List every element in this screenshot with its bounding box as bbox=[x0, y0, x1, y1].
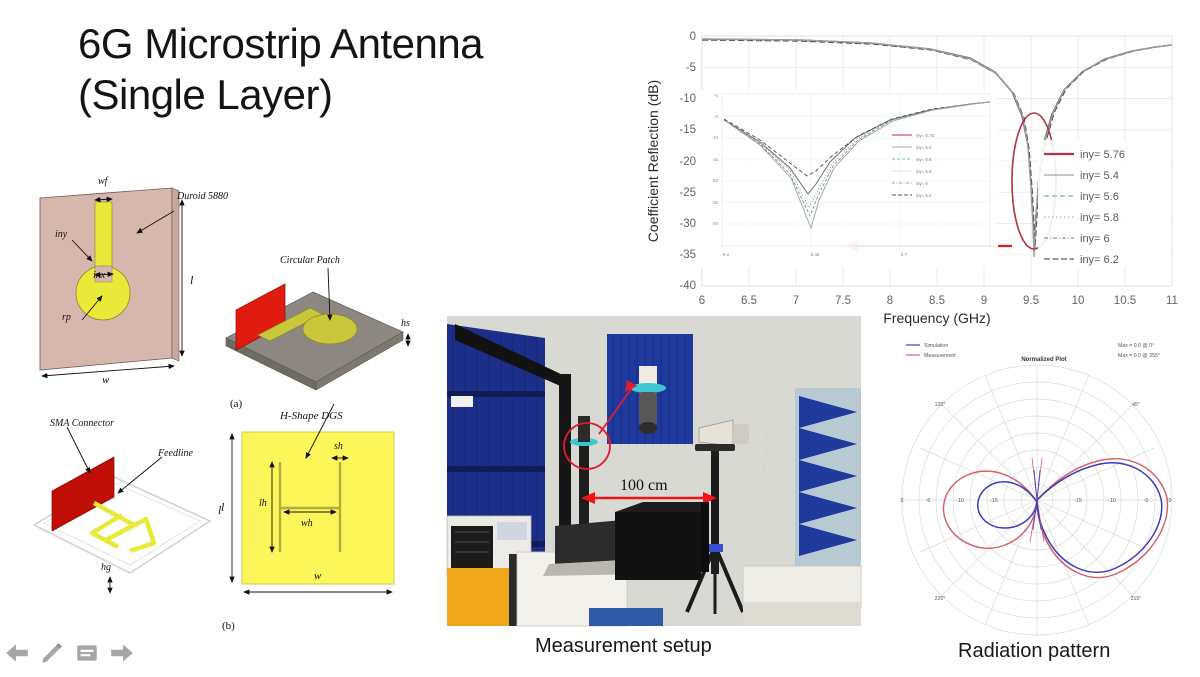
svg-text:-5: -5 bbox=[926, 498, 931, 504]
svg-text:6: 6 bbox=[699, 295, 705, 307]
document-icon[interactable] bbox=[74, 640, 100, 666]
caption-measurement-setup: Measurement setup bbox=[535, 635, 712, 658]
svg-text:9.5: 9.5 bbox=[1023, 295, 1039, 307]
label-l-left: l bbox=[190, 273, 193, 288]
legend-label-4: iny= 6 bbox=[1080, 233, 1110, 245]
slide-canvas: 6G Microstrip Antenna (Single Layer) bbox=[0, 0, 1200, 677]
svg-text:-40: -40 bbox=[679, 280, 696, 292]
svg-text:10: 10 bbox=[1072, 295, 1085, 307]
panel-label-b: (b) bbox=[222, 620, 235, 632]
svg-text:-25: -25 bbox=[711, 200, 718, 205]
polar-max-meas: Max = 0.0 @ 355° bbox=[1118, 353, 1160, 359]
label-l-b: l bbox=[221, 500, 224, 515]
polar-angle-225: 225° bbox=[935, 596, 946, 602]
label-sh: sh bbox=[334, 441, 343, 452]
radiation-pattern-polar-chart: Simulation Measurement Max = 0.0 @ 0° Ma… bbox=[878, 330, 1196, 630]
svg-text:-10: -10 bbox=[679, 93, 696, 105]
chart-y-ticks: 0 -5 -10 -15 -20 -25 -30 -35 -40 bbox=[679, 31, 696, 292]
svg-text:iny= 6.2: iny= 6.2 bbox=[916, 193, 932, 198]
chart-x-ticks: 6 6.5 7 7.5 8 8.5 9 9.5 10 10.5 11 bbox=[699, 295, 1178, 307]
svg-text:iny= 5.4: iny= 5.4 bbox=[916, 145, 932, 150]
label-w-b: w bbox=[314, 570, 321, 582]
svg-text:-15: -15 bbox=[679, 124, 696, 136]
label-hg: hg bbox=[101, 562, 111, 573]
svg-text:-10: -10 bbox=[956, 498, 964, 504]
svg-text:-15: -15 bbox=[1074, 498, 1082, 504]
label-wh: wh bbox=[301, 518, 313, 529]
polar-angle-45: 45° bbox=[1132, 402, 1140, 408]
label-w-left: w bbox=[102, 374, 109, 386]
polar-max-sim: Max = 0.0 @ 0° bbox=[1118, 343, 1154, 349]
chart-y-axis-title: Coefficient Reflection (dB) bbox=[645, 80, 661, 242]
figure-antenna-3d-view: Circular Patch hs bbox=[218, 250, 418, 410]
measurement-setup-photo: 100 cm bbox=[447, 316, 861, 626]
legend-label-2: iny= 5.6 bbox=[1080, 191, 1119, 203]
polar-legend-measurement: Measurement bbox=[924, 353, 956, 359]
legend-label-5: iny= 6.2 bbox=[1080, 254, 1119, 266]
svg-text:-15: -15 bbox=[990, 498, 998, 504]
svg-text:-25: -25 bbox=[679, 187, 696, 199]
legend-label-1: iny= 5.4 bbox=[1080, 170, 1119, 182]
svg-text:0: 0 bbox=[690, 31, 696, 43]
svg-text:-10: -10 bbox=[1108, 498, 1116, 504]
svg-text:-35: -35 bbox=[679, 249, 696, 261]
distance-label: 100 cm bbox=[620, 477, 668, 494]
polar-legend-simulation: Simulation bbox=[924, 343, 948, 349]
label-circular-patch: Circular Patch bbox=[280, 255, 340, 266]
svg-text:9.46: 9.46 bbox=[811, 252, 820, 257]
svg-text:9: 9 bbox=[981, 295, 987, 307]
svg-text:10.5: 10.5 bbox=[1114, 295, 1136, 307]
svg-text:7: 7 bbox=[793, 295, 799, 307]
label-feedline: Feedline bbox=[158, 448, 193, 459]
caption-radiation-pattern: Radiation pattern bbox=[958, 640, 1110, 663]
title-line-2: (Single Layer) bbox=[78, 69, 638, 120]
svg-text:iny= 5.8: iny= 5.8 bbox=[916, 169, 932, 174]
figure-antenna-front-view: wf Duroid 5880 iny inx rp l w bbox=[22, 178, 237, 393]
label-hs: hs bbox=[401, 318, 410, 329]
svg-text:8: 8 bbox=[887, 295, 893, 307]
chart-inset: -0 -5 -10 -15 -20 -25 -30 9.2 9.46 9.7 bbox=[698, 90, 998, 268]
wall-label bbox=[451, 396, 473, 407]
svg-text:-0: -0 bbox=[714, 93, 719, 98]
svg-text:-5: -5 bbox=[686, 62, 696, 74]
label-inx: inx bbox=[93, 270, 105, 281]
forward-arrow-icon[interactable] bbox=[109, 640, 135, 666]
svg-text:-20: -20 bbox=[711, 178, 718, 183]
chart-legend: iny= 5.76 iny= 5.4 iny= 5.6 iny= 5.8 iny… bbox=[1038, 140, 1170, 268]
label-lh: lh bbox=[259, 498, 267, 509]
svg-text:9.7: 9.7 bbox=[901, 252, 908, 257]
chart-x-axis-title: Frequency (GHz) bbox=[883, 310, 990, 326]
svg-text:iny= 6: iny= 6 bbox=[916, 181, 928, 186]
figure-sma-feedline-view: SMA Connector Feedline hg l bbox=[22, 415, 227, 610]
svg-text:0: 0 bbox=[1169, 498, 1172, 504]
svg-text:-5: -5 bbox=[714, 114, 719, 119]
svg-text:-20: -20 bbox=[679, 156, 696, 168]
absorber-wall-right bbox=[795, 388, 861, 584]
svg-text:9.2: 9.2 bbox=[723, 252, 730, 257]
figure-h-shape-dgs: sh lh wh l w bbox=[222, 420, 417, 620]
svg-text:-30: -30 bbox=[711, 221, 718, 226]
leader-sma bbox=[67, 427, 90, 473]
legend-label-0: iny= 5.76 bbox=[1080, 149, 1125, 161]
absorber-panel-center bbox=[607, 334, 693, 444]
svg-text:8.5: 8.5 bbox=[929, 295, 945, 307]
bottom-toolbar bbox=[4, 640, 135, 666]
svg-text:-15: -15 bbox=[711, 157, 718, 162]
pencil-icon[interactable] bbox=[39, 640, 65, 666]
label-h-shape-dgs: H-Shape DGS bbox=[280, 410, 343, 422]
leader-feedline bbox=[118, 457, 162, 493]
label-iny: iny bbox=[55, 229, 67, 240]
label-wf: wf bbox=[98, 176, 107, 187]
polar-title: Normalized Plot bbox=[1021, 357, 1066, 363]
svg-text:-30: -30 bbox=[679, 218, 696, 230]
label-duroid: Duroid 5880 bbox=[177, 191, 228, 202]
svg-text:7.5: 7.5 bbox=[835, 295, 851, 307]
svg-text:0: 0 bbox=[901, 498, 904, 504]
feedline-strip bbox=[95, 202, 112, 272]
back-arrow-icon[interactable] bbox=[4, 640, 30, 666]
svg-text:11: 11 bbox=[1166, 295, 1178, 307]
label-sma-connector: SMA Connector bbox=[50, 418, 114, 429]
page-title: 6G Microstrip Antenna (Single Layer) bbox=[78, 18, 638, 120]
legend-label-3: iny= 5.8 bbox=[1080, 212, 1119, 224]
svg-text:-10: -10 bbox=[711, 135, 718, 140]
svg-text:-5: -5 bbox=[1144, 498, 1149, 504]
svg-text:iny= 5.76: iny= 5.76 bbox=[916, 133, 935, 138]
s11-reflection-chart: 0 -5 -10 -15 -20 -25 -30 -35 -40 6 6.5 7… bbox=[640, 16, 1196, 326]
title-line-1: 6G Microstrip Antenna bbox=[78, 18, 638, 69]
svg-text:iny= 5.6: iny= 5.6 bbox=[916, 157, 932, 162]
label-rp: rp bbox=[62, 312, 71, 323]
polar-angle-135: 135° bbox=[935, 402, 946, 408]
polar-angle-315: 315° bbox=[1131, 596, 1142, 602]
svg-text:6.5: 6.5 bbox=[741, 295, 757, 307]
substrate-edge bbox=[172, 188, 179, 361]
